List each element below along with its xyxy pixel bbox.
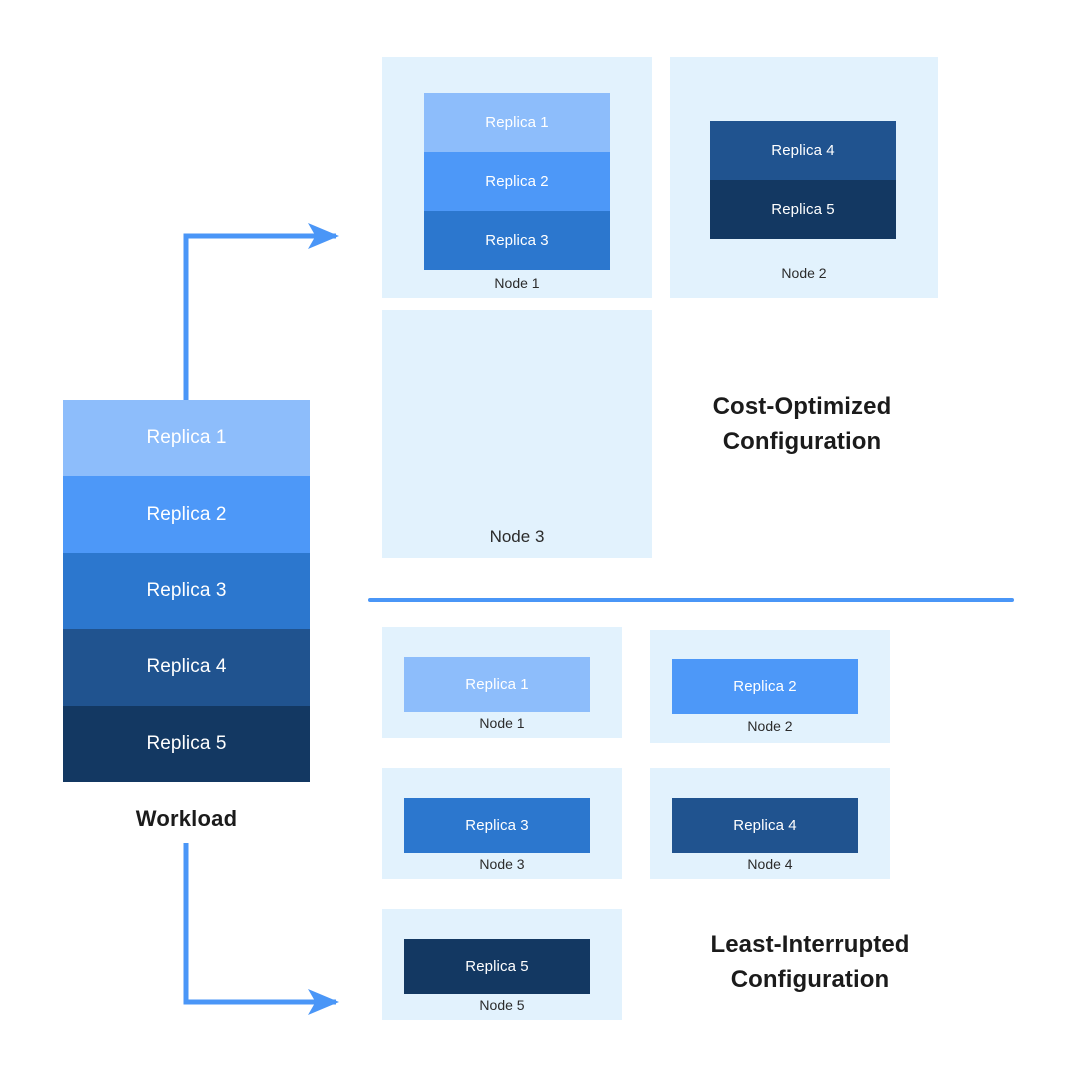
cost-node-1-replica-1: Replica 1 [424,93,610,152]
section-divider [368,598,1014,602]
least-node-5-replica: Replica 5 [404,939,590,994]
least-node-5-replica-label: Replica 5 [465,958,528,975]
workload-replica-4: Replica 4 [63,629,310,705]
least-node-1-replica-label: Replica 1 [465,676,528,693]
cost-node-1[interactable]: Replica 1 Replica 2 Replica 3 Node 1 [382,57,652,298]
cost-node-1-replica-2: Replica 2 [424,152,610,211]
least-node-2-replica-label: Replica 2 [733,678,796,695]
cost-optimized-title: Cost-Optimized Configuration [666,390,938,460]
cost-node-1-replica-3: Replica 3 [424,211,610,270]
workload-replica-2: Replica 2 [63,476,310,552]
workload-replica-4-label: Replica 4 [146,656,226,678]
cost-optimized-title-line2: Configuration [666,425,938,460]
workload-label: Workload [63,806,310,832]
workload-replica-3-label: Replica 3 [146,580,226,602]
least-node-5[interactable]: Replica 5 Node 5 [382,909,622,1020]
cost-node-2[interactable]: Replica 4 Replica 5 Node 2 [670,57,938,298]
least-interrupted-title: Least-Interrupted Configuration [660,928,960,998]
least-node-4-caption: Node 4 [650,856,890,872]
least-node-4-replica: Replica 4 [672,798,858,853]
cost-node-1-replica-1-label: Replica 1 [485,114,548,131]
least-node-1-caption: Node 1 [382,715,622,731]
least-node-3-replica: Replica 3 [404,798,590,853]
least-node-3-replica-label: Replica 3 [465,817,528,834]
workload-replica-5-label: Replica 5 [146,733,226,755]
least-node-5-caption: Node 5 [382,997,622,1013]
workload-replica-1: Replica 1 [63,400,310,476]
cost-node-1-replica-3-label: Replica 3 [485,232,548,249]
diagram-canvas: Replica 1 Replica 2 Replica 3 Replica 4 … [0,0,1080,1080]
arrow-to-cost-optimized [186,236,336,400]
cost-node-2-replica-4-label: Replica 4 [771,142,834,159]
cost-node-2-replica-5-label: Replica 5 [771,201,834,218]
least-node-3[interactable]: Replica 3 Node 3 [382,768,622,879]
cost-optimized-title-line1: Cost-Optimized [666,390,938,425]
least-interrupted-title-line1: Least-Interrupted [660,928,960,963]
least-node-2-caption: Node 2 [650,718,890,734]
cost-node-1-caption: Node 1 [382,275,652,291]
workload-replica-5: Replica 5 [63,706,310,782]
least-node-2[interactable]: Replica 2 Node 2 [650,630,890,743]
cost-node-3-caption: Node 3 [382,527,652,547]
least-node-4-replica-label: Replica 4 [733,817,796,834]
least-node-1-replica: Replica 1 [404,657,590,712]
cost-node-2-replica-5: Replica 5 [710,180,896,239]
cost-node-3[interactable]: Node 3 [382,310,652,558]
workload-stack: Replica 1 Replica 2 Replica 3 Replica 4 … [63,400,310,782]
cost-node-2-replica-4: Replica 4 [710,121,896,180]
least-node-2-replica: Replica 2 [672,659,858,714]
least-node-4[interactable]: Replica 4 Node 4 [650,768,890,879]
workload-replica-2-label: Replica 2 [146,504,226,526]
cost-node-1-replica-2-label: Replica 2 [485,173,548,190]
cost-node-2-caption: Node 2 [670,265,938,281]
least-interrupted-title-line2: Configuration [660,963,960,998]
least-node-3-caption: Node 3 [382,856,622,872]
workload-replica-3: Replica 3 [63,553,310,629]
least-node-1[interactable]: Replica 1 Node 1 [382,627,622,738]
arrow-to-least-interrupted [186,843,336,1002]
workload-replica-1-label: Replica 1 [146,427,226,449]
